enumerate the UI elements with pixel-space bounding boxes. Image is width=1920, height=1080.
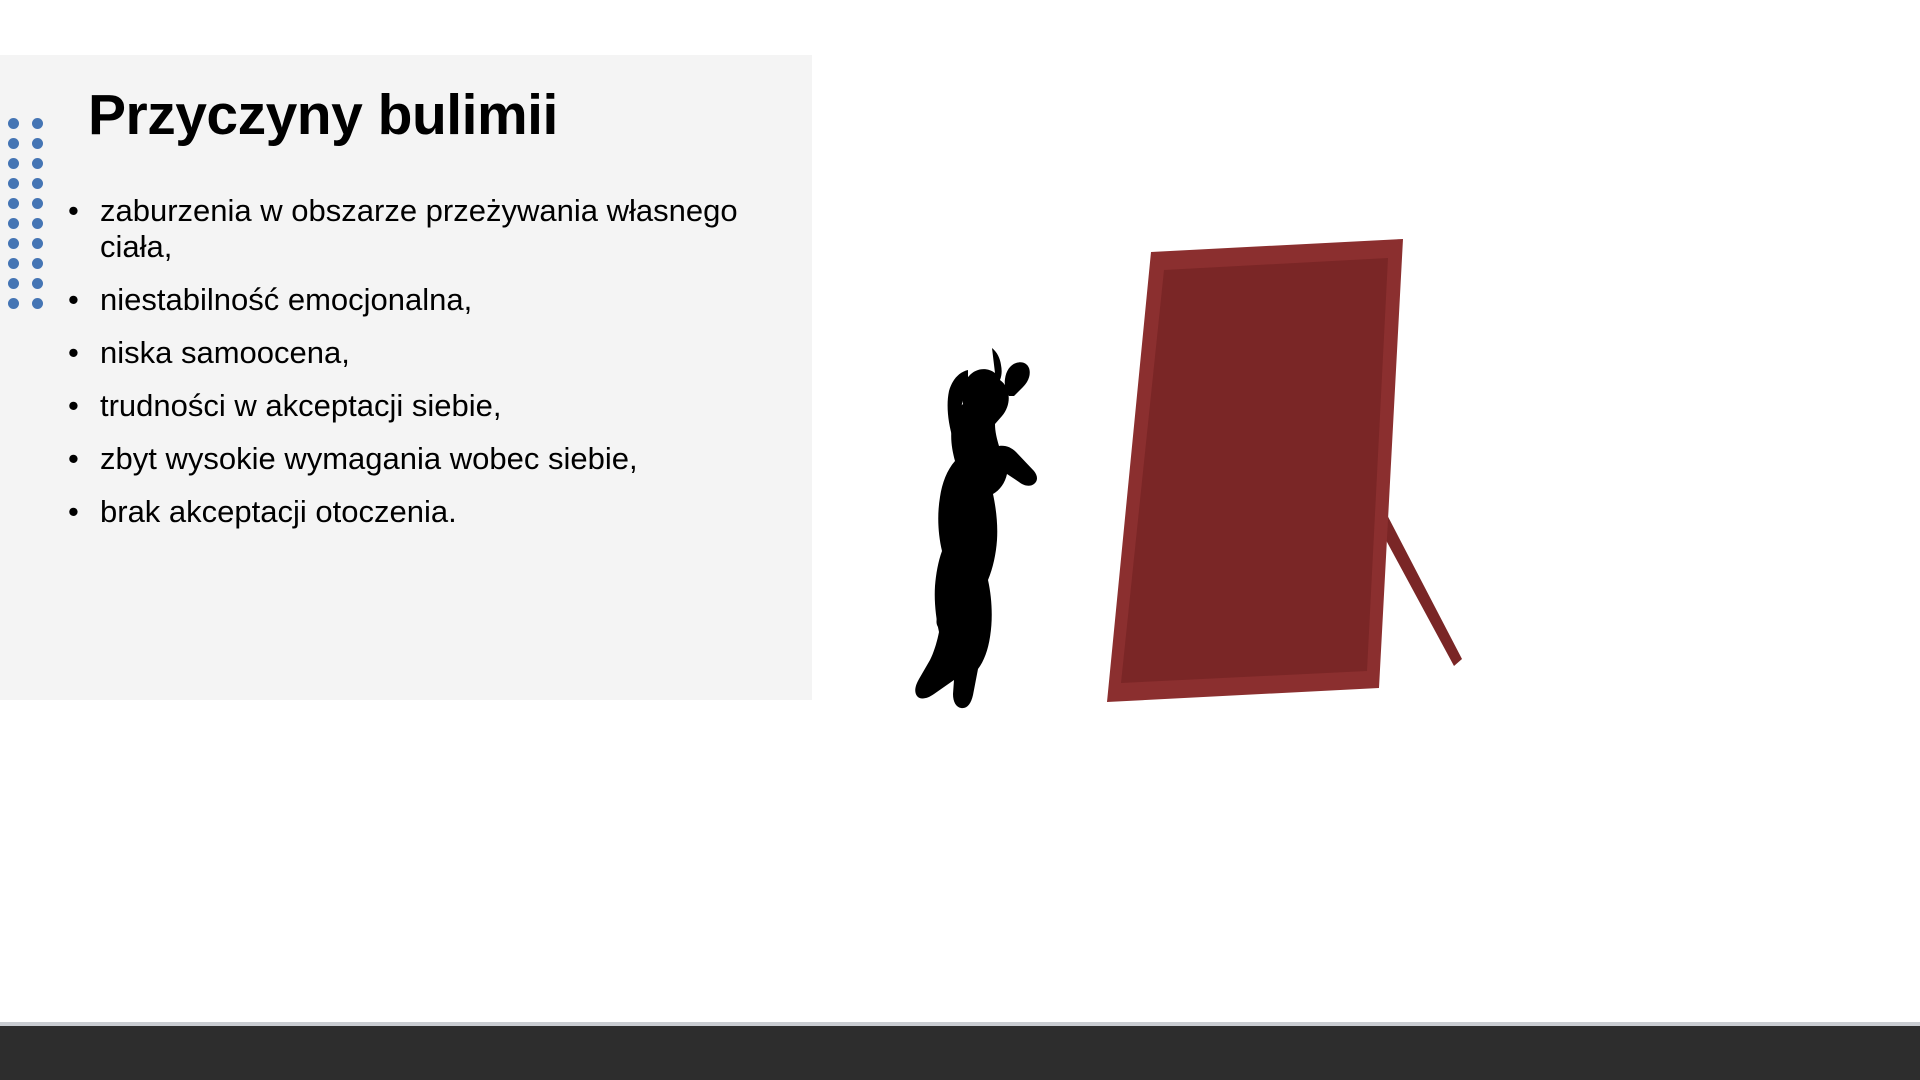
list-item: •brak akceptacji otoczenia. — [60, 494, 805, 530]
bullet-marker-icon: • — [68, 282, 79, 318]
decorative-dot — [8, 198, 19, 209]
list-item-label: zaburzenia w obszarze przeżywania własne… — [100, 193, 738, 264]
list-item: •zaburzenia w obszarze przeżywania własn… — [60, 193, 760, 265]
decorative-dot — [32, 238, 43, 249]
slide-canvas: Przyczyny bulimii •zaburzenia w obszarze… — [0, 0, 1920, 1080]
decorative-dot — [32, 198, 43, 209]
decorative-dot — [32, 138, 43, 149]
decorative-dot — [8, 118, 19, 129]
decorative-dot — [8, 258, 19, 269]
decorative-dot-grid — [8, 118, 54, 298]
decorative-dot — [8, 178, 19, 189]
page-title: Przyczyny bulimii — [88, 86, 788, 146]
decorative-dot — [8, 138, 19, 149]
mirror-frame — [1107, 239, 1403, 702]
decorative-dot — [8, 218, 19, 229]
list-item: •niska samoocena, — [60, 335, 805, 371]
bullet-marker-icon: • — [68, 388, 79, 424]
decorative-dot — [32, 278, 43, 289]
decorative-dot — [32, 218, 43, 229]
list-item-label: brak akceptacji otoczenia. — [100, 494, 457, 529]
slim-silhouette — [915, 348, 1037, 708]
list-item: •trudności w akceptacji siebie, — [60, 388, 805, 424]
decorative-dot — [32, 298, 43, 309]
list-item: •zbyt wysokie wymagania wobec siebie, — [60, 441, 805, 477]
mirror-illustration — [900, 210, 1520, 710]
decorative-dot — [8, 298, 19, 309]
decorative-dot — [8, 278, 19, 289]
decorative-dot — [32, 178, 43, 189]
bullet-marker-icon: • — [68, 335, 79, 371]
list-item-label: zbyt wysokie wymagania wobec siebie, — [100, 441, 638, 476]
list-item-label: trudności w akceptacji siebie, — [100, 388, 501, 423]
decorative-dot — [32, 258, 43, 269]
list-item: •niestabilność emocjonalna, — [60, 282, 805, 318]
bullet-marker-icon: • — [68, 494, 79, 530]
decorative-dot — [32, 158, 43, 169]
bullet-marker-icon: • — [68, 193, 79, 229]
footer-bar — [0, 1026, 1920, 1080]
list-item-label: niska samoocena, — [100, 335, 350, 370]
decorative-dot — [8, 158, 19, 169]
decorative-dot — [8, 238, 19, 249]
bullet-list: •zaburzenia w obszarze przeżywania własn… — [60, 193, 805, 547]
bullet-marker-icon: • — [68, 441, 79, 477]
decorative-dot — [32, 118, 43, 129]
list-item-label: niestabilność emocjonalna, — [100, 282, 472, 317]
